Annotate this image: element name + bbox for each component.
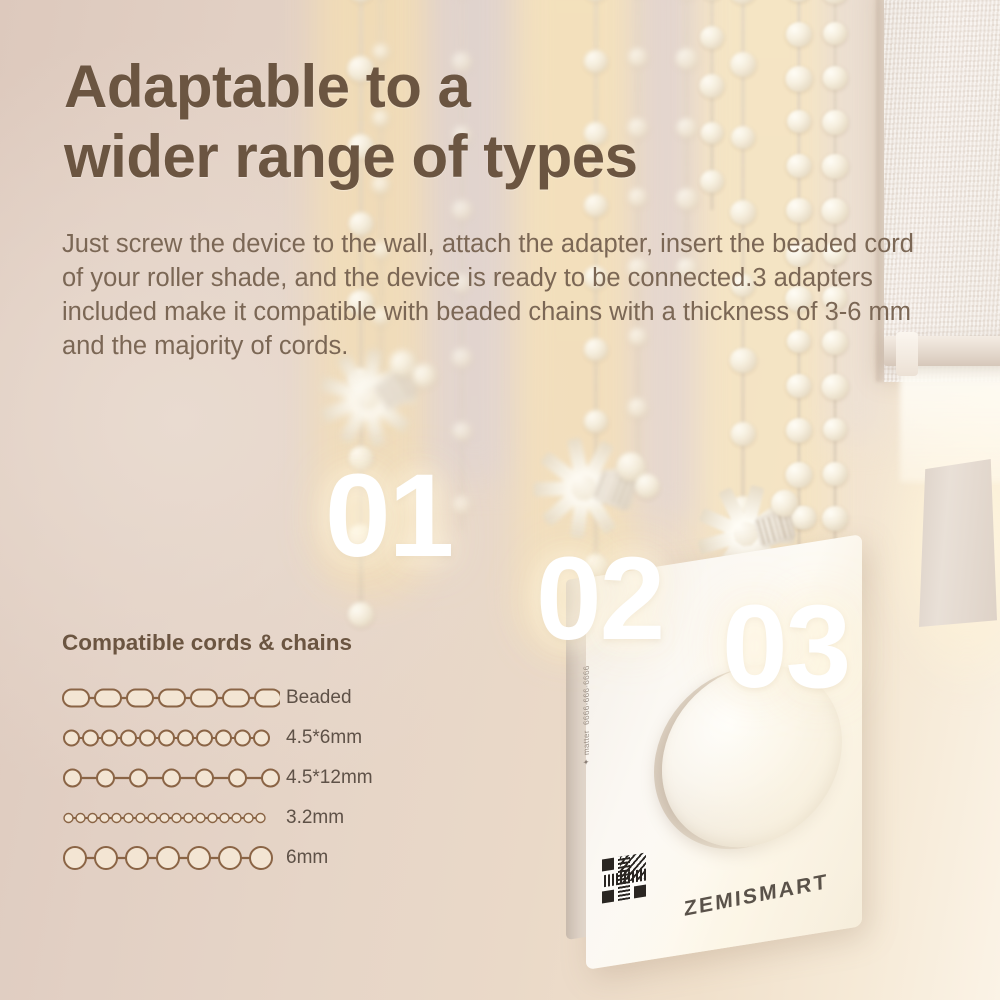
chain-bead bbox=[786, 66, 813, 92]
compat-row-label: 6mm bbox=[286, 847, 328, 869]
qr-code-icon bbox=[602, 853, 646, 904]
compat-row-list: Beaded4.5*6mm4.5*12mm3.2mm6mm bbox=[62, 678, 462, 878]
chain-bead bbox=[787, 154, 812, 178]
chain-bead bbox=[453, 496, 471, 514]
chain-bead bbox=[786, 0, 811, 2]
chain-bead bbox=[584, 0, 608, 1]
chain-bead bbox=[822, 506, 848, 531]
chain-bead bbox=[786, 374, 811, 398]
chain-bead bbox=[823, 22, 847, 45]
step-number-01: 01 bbox=[325, 457, 452, 575]
chain-bead bbox=[452, 422, 472, 441]
chain-bead bbox=[821, 198, 848, 224]
chain-bead bbox=[349, 0, 374, 2]
compat-row-label: 4.5*6mm bbox=[286, 727, 362, 749]
chain-bead bbox=[822, 374, 849, 400]
chain-bead bbox=[628, 398, 648, 418]
chain-bead bbox=[822, 110, 848, 135]
chain-bead bbox=[786, 22, 812, 47]
chain-bead bbox=[822, 154, 849, 179]
description-text: Just screw the device to the wall, attac… bbox=[62, 228, 928, 364]
compat-row: Beaded bbox=[62, 678, 462, 718]
chain-adapter bbox=[530, 434, 638, 542]
wall-sconce bbox=[919, 459, 997, 627]
matter-star-icon: ✦ bbox=[582, 757, 591, 766]
compat-row: 4.5*6mm bbox=[62, 718, 462, 758]
chain-bead bbox=[786, 462, 813, 488]
chain-bead bbox=[348, 602, 374, 627]
compat-row: 4.5*12mm bbox=[62, 758, 462, 798]
device-serial: 6666-666-6666 bbox=[582, 665, 591, 726]
step-number-03: 03 bbox=[722, 588, 849, 706]
chain-bead bbox=[786, 418, 812, 443]
compat-row: 6mm bbox=[62, 838, 462, 878]
chain-bead bbox=[729, 0, 756, 4]
chain-bead bbox=[787, 110, 811, 133]
chain-bead bbox=[452, 200, 473, 220]
micro-chain-icon bbox=[62, 801, 280, 835]
gear-tooth bbox=[533, 481, 572, 497]
chain-bead bbox=[700, 26, 724, 49]
compatible-cords-section: Compatible cords & chains Beaded4.5*6mm4… bbox=[62, 630, 462, 878]
chain-bead bbox=[584, 410, 608, 433]
headline-line-2: wider range of types bbox=[64, 123, 637, 190]
round-chain-large-icon bbox=[62, 841, 280, 875]
compat-section-title: Compatible cords & chains bbox=[62, 630, 462, 656]
matter-certification-label: ✦matter 6666-666-6666 bbox=[582, 667, 602, 766]
compat-row-label: 4.5*12mm bbox=[286, 767, 373, 789]
chain-bead bbox=[822, 0, 849, 4]
round-chain-dense-icon bbox=[62, 721, 280, 755]
page-title: Adaptable to a wider range of types bbox=[64, 52, 764, 192]
chain-bead bbox=[823, 462, 848, 486]
chain-bead bbox=[786, 198, 812, 223]
chain-bead bbox=[730, 200, 756, 225]
round-chain-rod-icon bbox=[62, 761, 280, 795]
compat-row: 3.2mm bbox=[62, 798, 462, 838]
chain-bead bbox=[823, 66, 848, 90]
compat-row-label: 3.2mm bbox=[286, 807, 344, 829]
compat-row-label: Beaded bbox=[286, 687, 352, 709]
chain-bead bbox=[731, 422, 756, 446]
matter-text: matter bbox=[582, 729, 591, 756]
oval-chain-icon bbox=[62, 681, 280, 715]
headline-line-1: Adaptable to a bbox=[64, 53, 470, 120]
step-number-02: 02 bbox=[536, 540, 663, 658]
chain-bead bbox=[584, 194, 608, 217]
chain-bead bbox=[823, 418, 847, 441]
